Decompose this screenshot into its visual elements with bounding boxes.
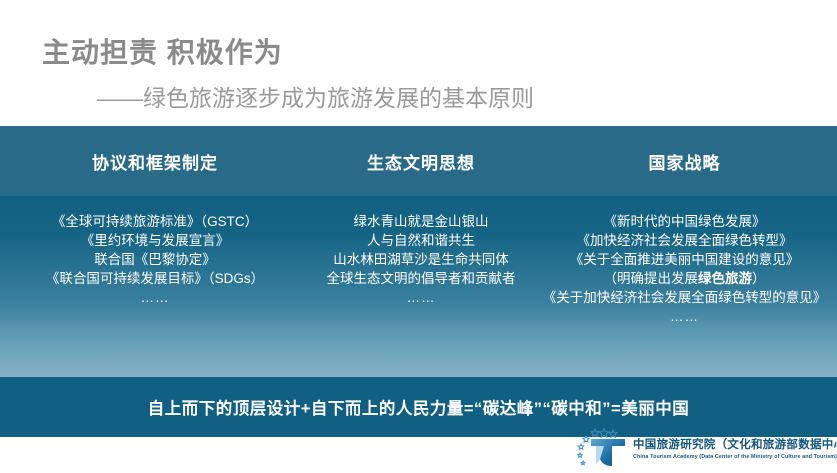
page-title: 主动担责 积极作为	[42, 31, 283, 71]
title-block: 主动担责 积极作为 ——绿色旅游逐步成为旅游发展的基本原则	[0, 0, 837, 126]
logo-chinese-name: 中国旅游研究院（文化和旅游部数据中心）	[633, 436, 837, 452]
table-header-ecological-thought: 生态文明思想	[310, 149, 532, 174]
list-item: 人与自然和谐共生	[310, 231, 532, 250]
table-header-agreements: 协议和框架制定	[0, 149, 310, 174]
highlight-suffix: ）	[752, 271, 766, 286]
table-header-row: 协议和框架制定 生态文明思想 国家战略	[0, 126, 837, 196]
list-item: 《联合国可持续发展目标》（SDGs）	[0, 269, 310, 288]
list-item-highlighted: （明确提出发展绿色旅游）	[540, 269, 829, 288]
conclusion-text: 自上而下的顶层设计+自下而上的人民力量=“碳达峰”“碳中和”=美丽中国	[148, 395, 689, 419]
organization-logo: 中国旅游研究院（文化和旅游部数据中心） China Tourism Academ…	[575, 428, 837, 468]
list-item: 《关于全面推进美丽中国建设的意见》	[540, 250, 829, 269]
table-header-national-strategy: 国家战略	[532, 149, 837, 174]
logo-text-block: 中国旅游研究院（文化和旅游部数据中心） China Tourism Academ…	[633, 436, 837, 460]
highlight-green-tourism: 绿色旅游	[698, 271, 752, 286]
list-item: 《关于加快经济社会发展全面绿色转型的意见》	[540, 288, 829, 307]
list-item: 联合国《巴黎协定》	[0, 250, 310, 269]
table-column-agreements: 《全球可持续旅游标准》（GSTC） 《里约环境与发展宣言》 联合国《巴黎协定》 …	[0, 196, 310, 377]
list-item-ellipsis: ……	[310, 288, 532, 307]
list-item: 《新时代的中国绿色发展》	[540, 212, 829, 231]
list-item: 《全球可持续旅游标准》（GSTC）	[0, 212, 310, 231]
page-subtitle: ——绿色旅游逐步成为旅游发展的基本原则	[97, 79, 534, 113]
list-item: 山水林田湖草沙是生命共同体	[310, 250, 532, 269]
list-item: 全球生态文明的倡导者和贡献者	[310, 269, 532, 288]
list-item-ellipsis: ……	[0, 288, 310, 307]
tourism-academy-emblem-icon	[575, 428, 631, 468]
table-column-ecological-thought: 绿水青山就是金山银山 人与自然和谐共生 山水林田湖草沙是生命共同体 全球生态文明…	[310, 196, 532, 377]
list-item: 《里约环境与发展宣言》	[0, 231, 310, 250]
highlight-prefix: （明确提出发展	[604, 271, 699, 286]
table-column-national-strategy: 《新时代的中国绿色发展》 《加快经济社会发展全面绿色转型》 《关于全面推进美丽中…	[532, 196, 837, 377]
table-body: 《全球可持续旅游标准》（GSTC） 《里约环境与发展宣言》 联合国《巴黎协定》 …	[0, 196, 837, 377]
list-item: 绿水青山就是金山银山	[310, 212, 532, 231]
logo-english-name: China Tourism Academy (Data Center of th…	[633, 454, 837, 460]
list-item-ellipsis: ……	[540, 307, 829, 326]
list-item: 《加快经济社会发展全面绿色转型》	[540, 231, 829, 250]
